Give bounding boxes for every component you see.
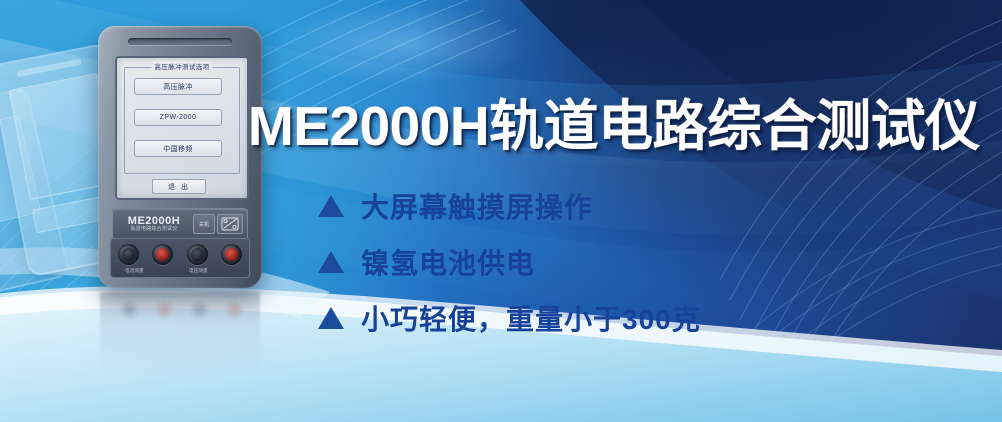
reflection-jack [155, 300, 174, 319]
port-jack-current-positive[interactable] [152, 244, 173, 265]
device-reflection [100, 292, 260, 376]
feature-item: 镍氢电池供电 [318, 234, 701, 290]
ghost-speaker-slot [16, 59, 82, 77]
feature-label: 大屏幕触摸屏操作 [361, 186, 593, 226]
port-jack-current-negative[interactable] [118, 244, 139, 265]
port-jack-voltage-negative[interactable] [187, 244, 208, 265]
page-title: ME2000H轨道电路综合测试仪 [248, 81, 980, 161]
device-brand-text: ME2000H 轨道电路综合测试仪 [117, 216, 191, 233]
device-screen: 高压脉冲测试选项 高压脉冲 ZPW-2000 中国移频 退 出 [115, 56, 249, 200]
reflection-jack [225, 300, 244, 319]
device-model-subtitle: 轨道电路综合测试仪 [117, 227, 191, 232]
feature-item: 小巧轻便，重量小于300克 [318, 290, 701, 346]
screen-header-label: 高压脉冲测试选项 [151, 61, 212, 71]
feature-item: 大屏幕触摸屏操作 [318, 178, 701, 234]
reflection-jacks [112, 300, 252, 319]
device-function-key[interactable] [217, 214, 243, 234]
feature-label: 镍氢电池供电 [361, 242, 535, 282]
triangle-bullet-icon [318, 307, 344, 329]
device-power-key[interactable]: 关机 [193, 214, 215, 234]
reflection-jack [120, 300, 139, 319]
feature-list: 大屏幕触摸屏操作 镍氢电池供电 小巧轻便，重量小于300克 [318, 178, 701, 346]
device-port-strip: 电流测量 电压测量 [110, 238, 250, 278]
screen-button-exit[interactable]: 退 出 [152, 179, 206, 194]
product-device: 高压脉冲测试选项 高压脉冲 ZPW-2000 中国移频 退 出 ME2000H … [98, 26, 262, 288]
feature-label: 小巧轻便，重量小于300克 [361, 298, 701, 338]
port-label-current: 电流测量 [125, 268, 144, 274]
port-jack-voltage-positive[interactable] [221, 244, 242, 265]
reflection-jack [190, 300, 209, 319]
fn-icon [221, 217, 239, 231]
device-label-plate: ME2000H 轨道电路综合测试仪 关机 [112, 208, 248, 240]
triangle-bullet-icon [318, 195, 344, 217]
product-banner: 高压脉冲测试选项 高压脉冲 ZPW-2000 中国移频 退 出 ME2000H … [0, 0, 1002, 422]
screen-button-china-shift[interactable]: 中国移频 [134, 140, 222, 157]
screen-button-hv-pulse[interactable]: 高压脉冲 [134, 78, 222, 95]
port-label-voltage: 电压测量 [189, 268, 208, 274]
screen-button-zpw2000[interactable]: ZPW-2000 [134, 109, 222, 126]
triangle-bullet-icon [318, 251, 344, 273]
